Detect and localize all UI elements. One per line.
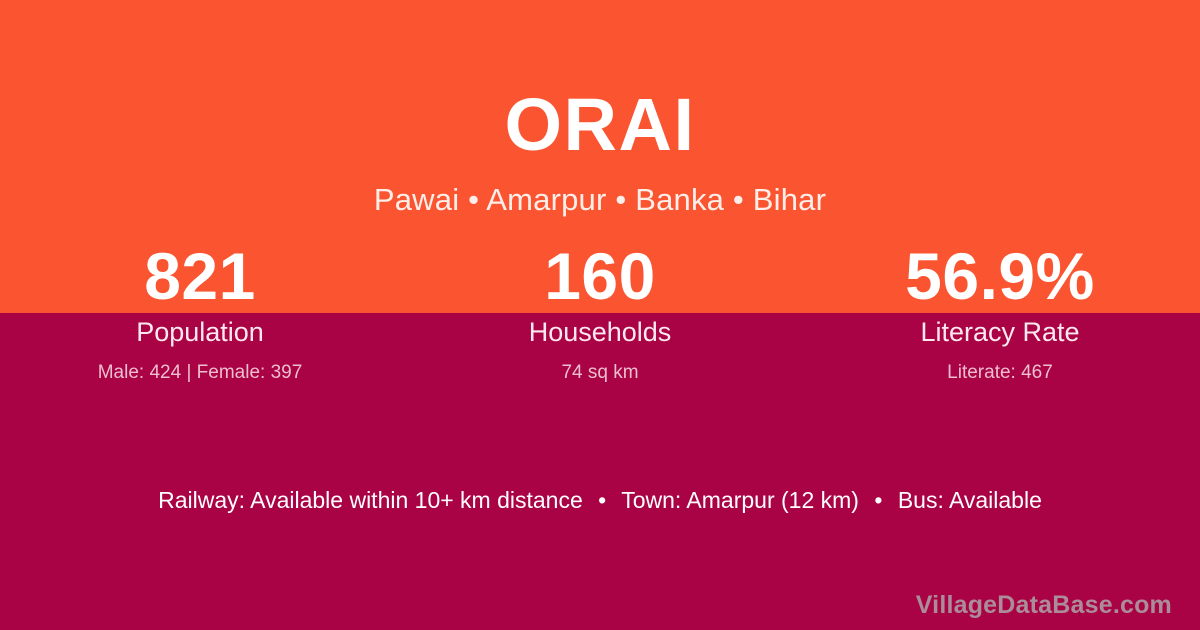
village-info-card: ORAI Pawai • Amarpur • Banka • Bihar 821…: [0, 0, 1200, 630]
stat-literacy-rate: 56.9% Literacy Rate Literate: 467: [800, 240, 1200, 382]
stat-households: 160 Households 74 sq km: [400, 240, 800, 382]
stat-value: 160: [400, 240, 800, 313]
amenity-separator: •: [865, 487, 891, 513]
stat-sublabel: 74 sq km: [400, 346, 800, 382]
amenity-separator: •: [589, 487, 615, 513]
page-title: ORAI: [0, 0, 1200, 162]
stats-row: 821 Population Male: 424 | Female: 397 1…: [0, 240, 1200, 382]
stat-value: 821: [0, 240, 400, 313]
stat-label: Literacy Rate: [800, 313, 1200, 346]
amenities-line: Railway: Available within 10+ km distanc…: [0, 486, 1200, 514]
stat-label: Households: [400, 313, 800, 346]
amenity-railway: Railway: Available within 10+ km distanc…: [158, 487, 583, 513]
breadcrumb: Pawai • Amarpur • Banka • Bihar: [0, 162, 1200, 215]
stat-value: 56.9%: [800, 240, 1200, 313]
stat-population: 821 Population Male: 424 | Female: 397: [0, 240, 400, 382]
header: ORAI Pawai • Amarpur • Banka • Bihar: [0, 0, 1200, 215]
stat-sublabel: Literate: 467: [800, 346, 1200, 382]
stat-label: Population: [0, 313, 400, 346]
amenity-town: Town: Amarpur (12 km): [621, 487, 859, 513]
stat-sublabel: Male: 424 | Female: 397: [0, 346, 400, 382]
amenity-bus: Bus: Available: [898, 487, 1042, 513]
site-watermark: VillageDataBase.com: [916, 593, 1172, 618]
